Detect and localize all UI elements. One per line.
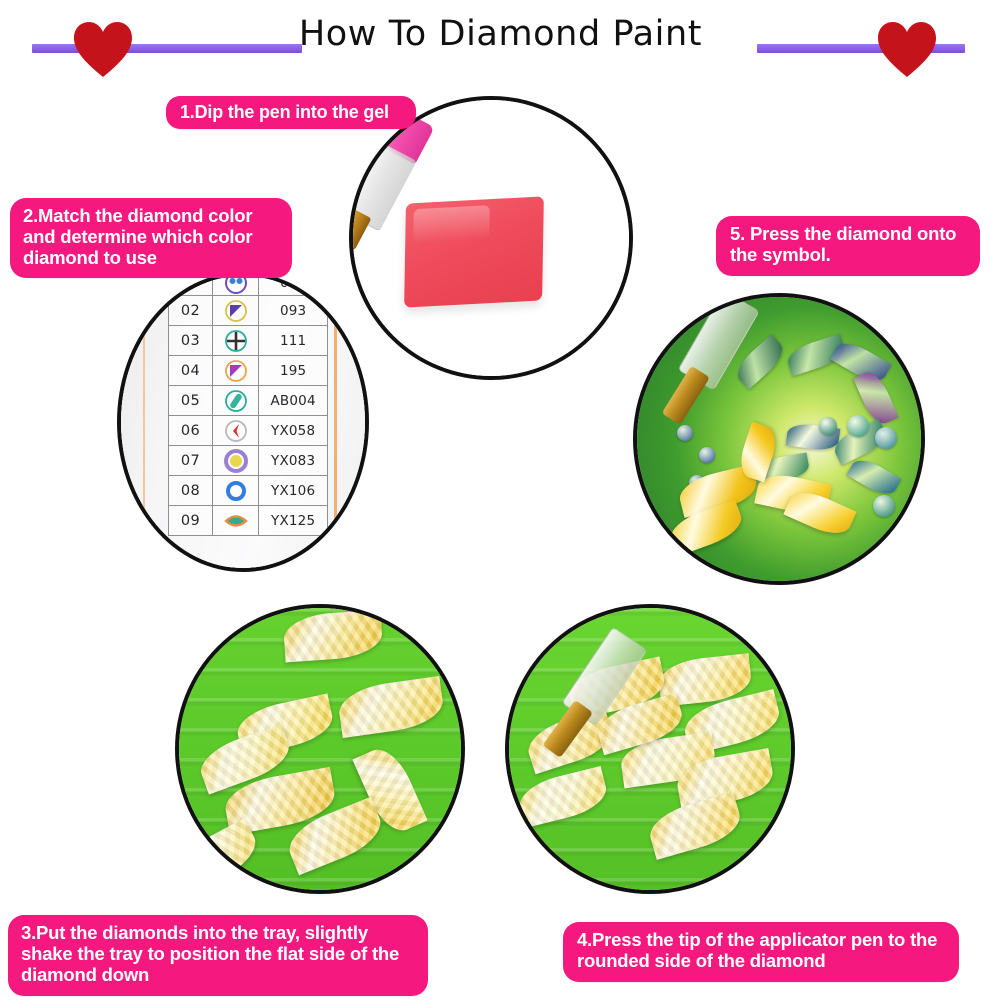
color-chart-row: 08YX106	[169, 476, 328, 506]
color-chart-table: 02002093031110419505AB00406YX05807YX0830…	[168, 276, 328, 536]
step-3-label: 3.Put the diamonds into the tray, slight…	[8, 915, 428, 996]
step-4-photo-circle	[505, 604, 795, 894]
chart-cell-number: 09	[169, 506, 213, 536]
slash-capsule-icon	[224, 389, 248, 413]
diamond-gem	[846, 454, 901, 500]
color-chart-photo: 02002093031110419505AB00406YX05807YX0830…	[121, 276, 365, 568]
chart-cell-number: 07	[169, 446, 213, 476]
step-1-label: 1.Dip the pen into the gel	[166, 96, 416, 129]
how-to-diamond-paint-infographic: How To Diamond Paint 0200209303111041950…	[0, 0, 1001, 1001]
chart-cell-code: 093	[259, 296, 328, 326]
pen-tip-on-diamond-photo	[509, 608, 791, 890]
chart-cell-code: YX106	[259, 476, 328, 506]
chart-cell-symbol	[213, 386, 259, 416]
chart-cell-number: 02	[169, 296, 213, 326]
chart-cell-number: 08	[169, 476, 213, 506]
chart-cell-code: YX125	[259, 506, 328, 536]
chart-cell-symbol	[213, 446, 259, 476]
round-diamond	[875, 427, 897, 449]
filled-dot-ring-icon	[224, 449, 248, 473]
chart-cell-symbol	[213, 326, 259, 356]
round-diamond	[819, 417, 837, 435]
color-chart-row: 020	[169, 276, 328, 296]
step-5-photo-circle	[633, 293, 925, 585]
chart-cell-code: YX058	[259, 416, 328, 446]
chart-cell-code: YX083	[259, 446, 328, 476]
color-chart-row: 04195	[169, 356, 328, 386]
chart-cell-number: 03	[169, 326, 213, 356]
chart-cell-number	[169, 276, 213, 296]
color-chart-row: 06YX058	[169, 416, 328, 446]
step-5-label: 5. Press the diamond onto the symbol.	[716, 216, 980, 276]
left-arrow-icon	[224, 419, 248, 443]
color-chart-row: 05AB004	[169, 386, 328, 416]
step-3-photo-circle	[175, 604, 465, 894]
open-ring-icon	[224, 479, 248, 503]
triangle-flag-icon	[224, 359, 248, 383]
step-4-label: 4.Press the tip of the applicator pen to…	[563, 922, 959, 982]
pressing-diamond-onto-canvas-photo	[637, 297, 921, 581]
color-chart-row: 03111	[169, 326, 328, 356]
plus-cross-icon	[224, 329, 248, 353]
gel-pad	[404, 196, 544, 307]
triangle-flag-icon	[224, 299, 248, 323]
step-2-photo-circle: 02002093031110419505AB00406YX05807YX0830…	[117, 272, 369, 572]
chart-cell-symbol	[213, 356, 259, 386]
chart-cell-code: 111	[259, 326, 328, 356]
page-title: How To Diamond Paint	[0, 17, 1001, 52]
chart-cell-symbol	[213, 416, 259, 446]
chart-cell-number: 06	[169, 416, 213, 446]
round-diamond	[847, 415, 869, 437]
pen-tip	[662, 366, 710, 425]
chart-cell-number: 04	[169, 356, 213, 386]
step-2-label: 2.Match the diamond color and determine …	[10, 198, 292, 278]
chart-cell-code: 020	[259, 276, 328, 296]
step-1-photo-circle	[349, 96, 633, 380]
chart-cell-symbol	[213, 276, 259, 296]
color-chart-row: 07YX083	[169, 446, 328, 476]
chart-cell-code: AB004	[259, 386, 328, 416]
color-chart-row: 02093	[169, 296, 328, 326]
mandala-canvas	[637, 297, 921, 581]
chart-cell-code: 195	[259, 356, 328, 386]
chart-cell-number: 05	[169, 386, 213, 416]
pen-tip	[542, 700, 593, 758]
chart-cell-symbol	[213, 506, 259, 536]
pen-dipping-into-gel-photo	[353, 100, 629, 376]
double-dot-circle-icon	[224, 276, 248, 295]
round-diamond	[699, 447, 715, 463]
color-chart-row: 09YX125	[169, 506, 328, 536]
leaf-marquise-icon	[224, 509, 248, 533]
chart-cell-symbol	[213, 476, 259, 506]
round-diamond	[873, 495, 895, 517]
diamonds-in-tray-photo	[179, 608, 461, 890]
chart-cell-symbol	[213, 296, 259, 326]
